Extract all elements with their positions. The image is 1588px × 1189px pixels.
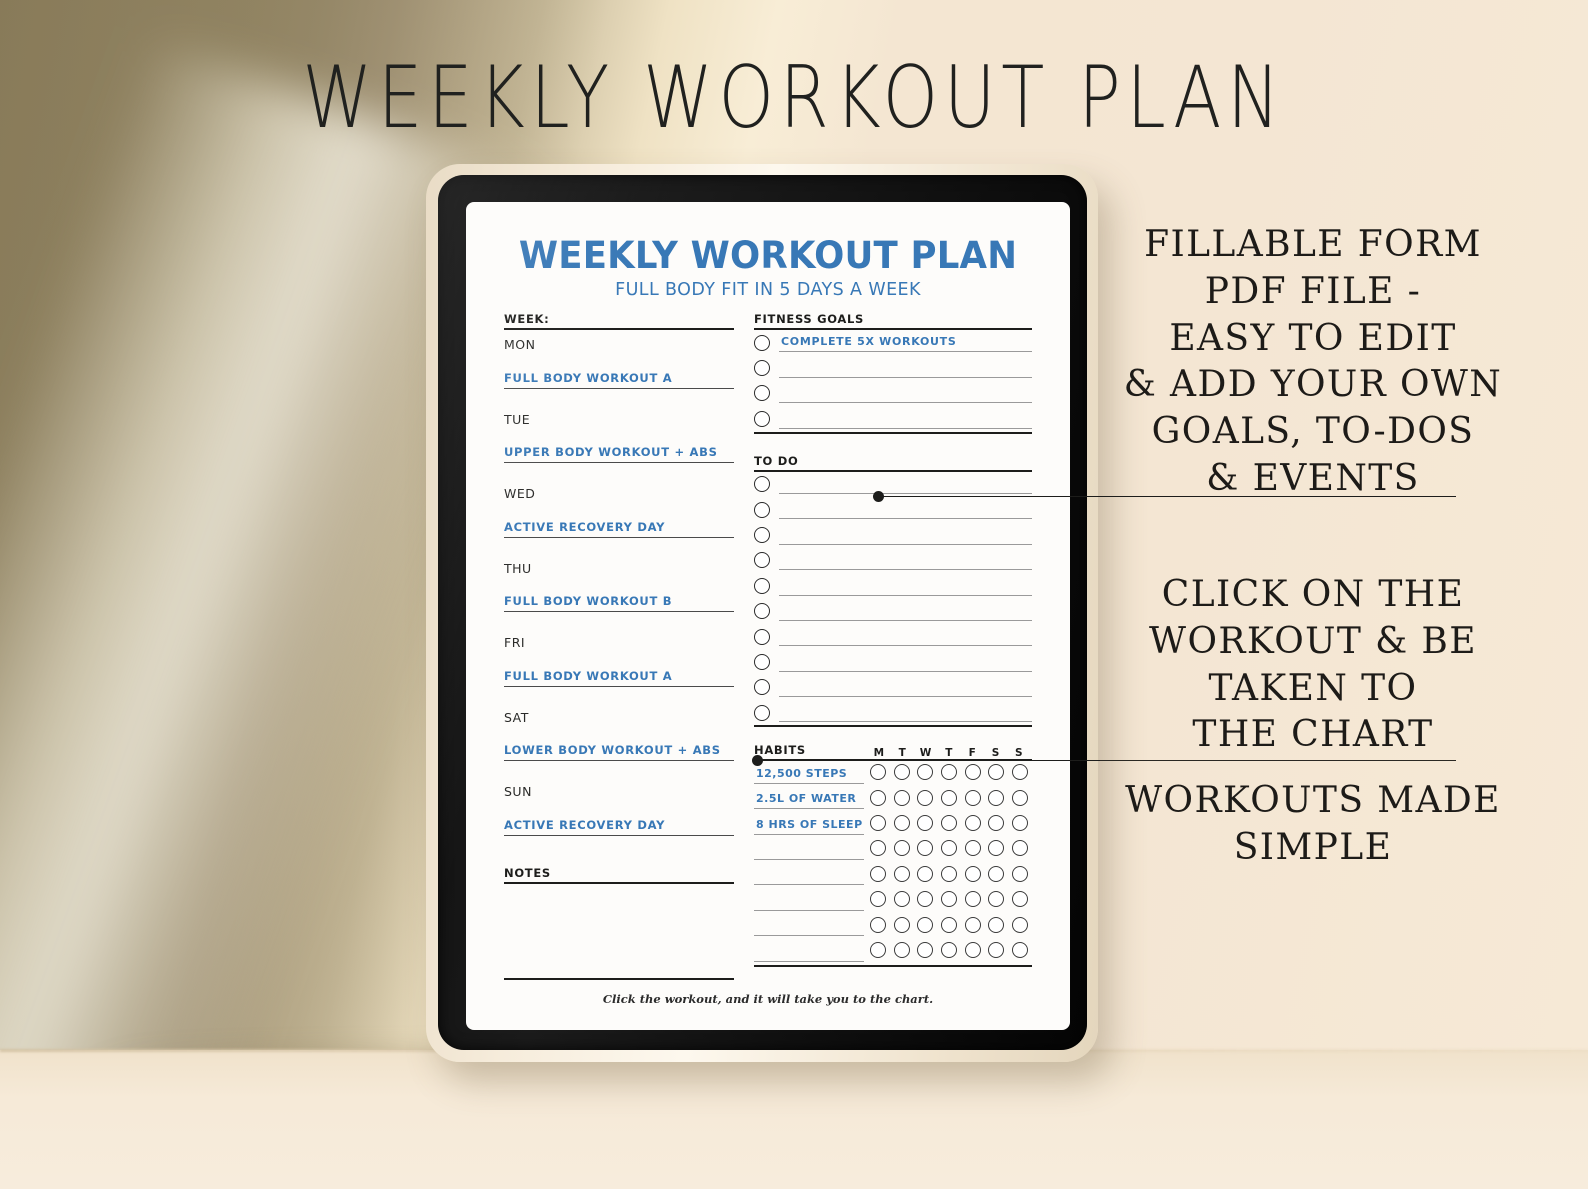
checkbox-circle-icon[interactable]	[754, 360, 770, 376]
entry-line[interactable]	[779, 548, 1032, 573]
habit-day-circle-icon[interactable]	[941, 866, 957, 882]
entry-line[interactable]	[779, 700, 1032, 725]
habit-row[interactable]	[754, 888, 1032, 913]
habit-day-circles	[864, 764, 1032, 784]
habit-day-circle-icon[interactable]	[894, 891, 910, 907]
habit-day-circle-icon[interactable]	[965, 891, 981, 907]
habit-day-circle-icon[interactable]	[917, 840, 933, 856]
entry-line[interactable]	[779, 573, 1032, 598]
day-name: SUN	[504, 777, 734, 799]
habit-day-initial: F	[965, 747, 979, 759]
day-block: WEDACTIVE RECOVERY DAY	[504, 479, 734, 554]
todo-row[interactable]	[754, 675, 1032, 700]
habit-name[interactable]	[754, 888, 864, 913]
habit-day-circle-icon[interactable]	[965, 840, 981, 856]
habit-day-circle-icon[interactable]	[988, 764, 1004, 780]
week-label: WEEK:	[504, 312, 734, 328]
marketing-block-tagline: WORKOUTS MADE SIMPLE	[1100, 778, 1526, 872]
todo-row[interactable]	[754, 700, 1032, 725]
habit-day-circle-icon[interactable]	[870, 942, 886, 958]
marketing-block-clickable: CLICK ON THE WORKOUT & BE TAKEN TO THE C…	[1100, 572, 1526, 759]
day-name: SAT	[504, 703, 734, 725]
habit-day-circle-icon[interactable]	[870, 790, 886, 806]
goals-column: FITNESS GOALS COMPLETE 5X WORKOUTS TO DO…	[754, 312, 1032, 967]
habit-day-circle-icon[interactable]	[1012, 917, 1028, 933]
checkbox-circle-icon[interactable]	[754, 629, 770, 645]
habit-day-circle-icon[interactable]	[1012, 891, 1028, 907]
habit-day-circle-icon[interactable]	[988, 891, 1004, 907]
workout-rule	[504, 388, 734, 389]
checkbox-circle-icon[interactable]	[754, 476, 770, 492]
checkbox-circle-icon[interactable]	[754, 385, 770, 401]
habits-heading: HABITS	[754, 743, 864, 759]
habit-day-circle-icon[interactable]	[965, 790, 981, 806]
poster-canvas: WEEKLY WORKOUT PLAN WEEKLY WORKOUT PLAN …	[0, 0, 1588, 1189]
habit-name[interactable]	[754, 939, 864, 964]
entry-line[interactable]	[779, 599, 1032, 624]
todo-row[interactable]	[754, 573, 1032, 598]
todo-row[interactable]	[754, 497, 1032, 522]
habit-day-circle-icon[interactable]	[1012, 840, 1028, 856]
day-list: MONFULL BODY WORKOUT ATUEUPPER BODY WORK…	[504, 330, 734, 852]
workout-label[interactable]: ACTIVE RECOVERY DAY	[504, 520, 734, 536]
planner-title: WEEKLY WORKOUT PLAN	[478, 234, 1058, 277]
habit-day-circle-icon[interactable]	[894, 917, 910, 933]
habit-day-circle-icon[interactable]	[965, 764, 981, 780]
habit-row[interactable]: 8 HRS OF SLEEP	[754, 812, 1032, 837]
entry-line[interactable]	[779, 624, 1032, 649]
poster-title: WEEKLY WORKOUT PLAN	[143, 48, 1445, 148]
habit-row[interactable]: 12,500 STEPS	[754, 761, 1032, 786]
checkbox-circle-icon[interactable]	[754, 679, 770, 695]
entry-line[interactable]	[779, 472, 1032, 497]
habit-name[interactable]	[754, 863, 864, 888]
todo-list	[754, 472, 1032, 726]
habit-day-initial: W	[919, 747, 933, 759]
day-block: FRIFULL BODY WORKOUT A	[504, 628, 734, 703]
habit-day-circle-icon[interactable]	[917, 790, 933, 806]
habit-day-initial: S	[989, 747, 1003, 759]
habit-day-circle-icon[interactable]	[965, 942, 981, 958]
habit-day-circle-icon[interactable]	[941, 917, 957, 933]
day-name: WED	[504, 479, 734, 501]
habit-day-circles	[864, 815, 1032, 835]
habit-row[interactable]	[754, 914, 1032, 939]
checkbox-circle-icon[interactable]	[754, 527, 770, 543]
checkbox-circle-icon[interactable]	[754, 578, 770, 594]
day-block: SATLOWER BODY WORKOUT + ABS	[504, 703, 734, 778]
habit-day-circles	[864, 866, 1032, 886]
tablet-device: WEEKLY WORKOUT PLAN FULL BODY FIT IN 5 D…	[426, 164, 1098, 1062]
checkbox-circle-icon[interactable]	[754, 603, 770, 619]
entry-line[interactable]	[779, 649, 1032, 674]
habit-name[interactable]: 12,500 STEPS	[754, 761, 864, 786]
todo-heading: TO DO	[754, 454, 1032, 470]
habit-day-circle-icon[interactable]	[1012, 790, 1028, 806]
habit-day-circle-icon[interactable]	[1012, 815, 1028, 831]
planner-sheet: WEEKLY WORKOUT PLAN FULL BODY FIT IN 5 D…	[466, 202, 1070, 1030]
habit-day-circle-icon[interactable]	[988, 917, 1004, 933]
fitness-goals-list: COMPLETE 5X WORKOUTS	[754, 330, 1032, 432]
habit-day-circle-icon[interactable]	[894, 866, 910, 882]
habit-day-circle-icon[interactable]	[870, 917, 886, 933]
entry-line[interactable]	[779, 381, 1032, 406]
habit-row[interactable]	[754, 863, 1032, 888]
workout-rule	[504, 835, 734, 836]
day-block: MONFULL BODY WORKOUT A	[504, 330, 734, 405]
notes-label: NOTES	[504, 866, 734, 882]
habit-day-initial: S	[1012, 747, 1026, 759]
habit-day-circle-icon[interactable]	[941, 815, 957, 831]
habit-day-circle-icon[interactable]	[917, 815, 933, 831]
fitness-goals-heading: FITNESS GOALS	[754, 312, 1032, 328]
checkbox-circle-icon[interactable]	[754, 552, 770, 568]
habit-name-text: 2.5L OF WATER	[756, 792, 856, 805]
habit-day-circle-icon[interactable]	[894, 840, 910, 856]
day-block: THUFULL BODY WORKOUT B	[504, 554, 734, 629]
habit-day-circle-icon[interactable]	[870, 891, 886, 907]
habit-day-circle-icon[interactable]	[917, 942, 933, 958]
habit-name[interactable]	[754, 914, 864, 939]
workout-label[interactable]: ACTIVE RECOVERY DAY	[504, 818, 734, 834]
habit-row[interactable]	[754, 939, 1032, 964]
marketing-block-features: FILLABLE FORM PDF FILE - EASY TO EDIT & …	[1100, 222, 1526, 503]
habit-day-circle-icon[interactable]	[894, 942, 910, 958]
entry-line[interactable]	[779, 675, 1032, 700]
habit-day-circle-icon[interactable]	[1012, 764, 1028, 780]
todo-row[interactable]	[754, 599, 1032, 624]
habit-day-circle-icon[interactable]	[988, 942, 1004, 958]
habit-day-circle-icon[interactable]	[988, 815, 1004, 831]
entry-line[interactable]: COMPLETE 5X WORKOUTS	[779, 330, 1032, 355]
habit-day-circle-icon[interactable]	[965, 917, 981, 933]
day-name: THU	[504, 554, 734, 576]
day-block: TUEUPPER BODY WORKOUT + ABS	[504, 405, 734, 480]
habit-day-circle-icon[interactable]	[941, 764, 957, 780]
habit-day-circle-icon[interactable]	[917, 866, 933, 882]
schedule-column: WEEK: MONFULL BODY WORKOUT ATUEUPPER BOD…	[504, 312, 734, 980]
habit-day-circle-icon[interactable]	[870, 840, 886, 856]
workout-label[interactable]: FULL BODY WORKOUT A	[504, 669, 734, 685]
todo-row[interactable]	[754, 472, 1032, 497]
todo-row[interactable]	[754, 522, 1032, 547]
habit-name-text: 8 HRS OF SLEEP	[756, 818, 863, 831]
habit-row[interactable]: 2.5L OF WATER	[754, 787, 1032, 812]
entry-line[interactable]	[779, 355, 1032, 380]
workout-label[interactable]: LOWER BODY WORKOUT + ABS	[504, 743, 734, 759]
habit-day-circle-icon[interactable]	[894, 764, 910, 780]
workout-rule	[504, 686, 734, 687]
habit-day-circle-icon[interactable]	[917, 764, 933, 780]
habit-day-circle-icon[interactable]	[1012, 866, 1028, 882]
habit-day-circle-icon[interactable]	[941, 790, 957, 806]
habit-day-circle-icon[interactable]	[870, 815, 886, 831]
fitness-goal-row[interactable]	[754, 406, 1032, 431]
checkbox-circle-icon[interactable]	[754, 654, 770, 670]
habit-day-circle-icon[interactable]	[941, 942, 957, 958]
habit-day-circles	[864, 790, 1032, 810]
workout-label[interactable]: FULL BODY WORKOUT A	[504, 371, 734, 387]
habit-day-circle-icon[interactable]	[988, 866, 1004, 882]
habit-day-circle-icon[interactable]	[1012, 942, 1028, 958]
habit-day-circles	[864, 917, 1032, 937]
habit-day-circles	[864, 891, 1032, 911]
habit-day-circle-icon[interactable]	[988, 840, 1004, 856]
floor-surface	[0, 1050, 1588, 1189]
notes-bottom-rule	[504, 978, 734, 980]
habit-day-circle-icon[interactable]	[988, 790, 1004, 806]
habit-day-circle-icon[interactable]	[870, 866, 886, 882]
day-name: TUE	[504, 405, 734, 427]
planner-subtitle: FULL BODY FIT IN 5 DAYS A WEEK	[466, 280, 1070, 300]
habit-day-initial: M	[872, 747, 886, 759]
habit-day-circle-icon[interactable]	[894, 790, 910, 806]
notes-area[interactable]	[504, 884, 734, 980]
day-name: FRI	[504, 628, 734, 650]
habit-day-circle-icon[interactable]	[941, 891, 957, 907]
habit-name-text: 12,500 STEPS	[756, 767, 847, 780]
day-block: SUNACTIVE RECOVERY DAY	[504, 777, 734, 852]
fitness-goal-row[interactable]	[754, 355, 1032, 380]
entry-line[interactable]	[779, 497, 1032, 522]
habit-day-circle-icon[interactable]	[917, 891, 933, 907]
habit-name[interactable]: 8 HRS OF SLEEP	[754, 812, 864, 837]
habit-name[interactable]: 2.5L OF WATER	[754, 787, 864, 812]
todo-row[interactable]	[754, 649, 1032, 674]
checkbox-circle-icon[interactable]	[754, 411, 770, 427]
habits-bottom-rule	[754, 965, 1032, 967]
habit-day-circles	[864, 840, 1032, 860]
marketing-divider	[1100, 760, 1456, 761]
habit-name[interactable]	[754, 838, 864, 863]
checkbox-circle-icon[interactable]	[754, 502, 770, 518]
todo-row[interactable]	[754, 624, 1032, 649]
day-name: MON	[504, 330, 734, 352]
habit-day-circle-icon[interactable]	[941, 840, 957, 856]
habit-day-initials: MTWTFSS	[864, 747, 1032, 759]
habit-day-circle-icon[interactable]	[917, 917, 933, 933]
habit-day-circle-icon[interactable]	[870, 764, 886, 780]
habit-day-circle-icon[interactable]	[965, 815, 981, 831]
planner-footnote: Click the workout, and it will take you …	[466, 992, 1070, 1006]
entry-line[interactable]	[779, 406, 1032, 431]
workout-rule	[504, 462, 734, 463]
habit-day-circle-icon[interactable]	[965, 866, 981, 882]
habit-day-initial: T	[942, 747, 956, 759]
checkbox-circle-icon[interactable]	[754, 705, 770, 721]
fitness-goal-row[interactable]: COMPLETE 5X WORKOUTS	[754, 330, 1032, 355]
workout-label[interactable]: UPPER BODY WORKOUT + ABS	[504, 445, 734, 461]
entry-text: COMPLETE 5X WORKOUTS	[781, 335, 956, 348]
workout-label[interactable]: FULL BODY WORKOUT B	[504, 594, 734, 610]
workout-rule	[504, 611, 734, 612]
tablet-screen[interactable]: WEEKLY WORKOUT PLAN FULL BODY FIT IN 5 D…	[466, 202, 1070, 1030]
habit-day-circle-icon[interactable]	[894, 815, 910, 831]
habits-list: 12,500 STEPS2.5L OF WATER8 HRS OF SLEEP	[754, 761, 1032, 964]
todo-row[interactable]	[754, 548, 1032, 573]
fitness-goal-row[interactable]	[754, 381, 1032, 406]
entry-line[interactable]	[779, 522, 1032, 547]
habit-row[interactable]	[754, 838, 1032, 863]
workout-rule	[504, 760, 734, 761]
habit-day-initial: T	[895, 747, 909, 759]
habit-day-circles	[864, 942, 1032, 962]
checkbox-circle-icon[interactable]	[754, 335, 770, 351]
workout-rule	[504, 537, 734, 538]
